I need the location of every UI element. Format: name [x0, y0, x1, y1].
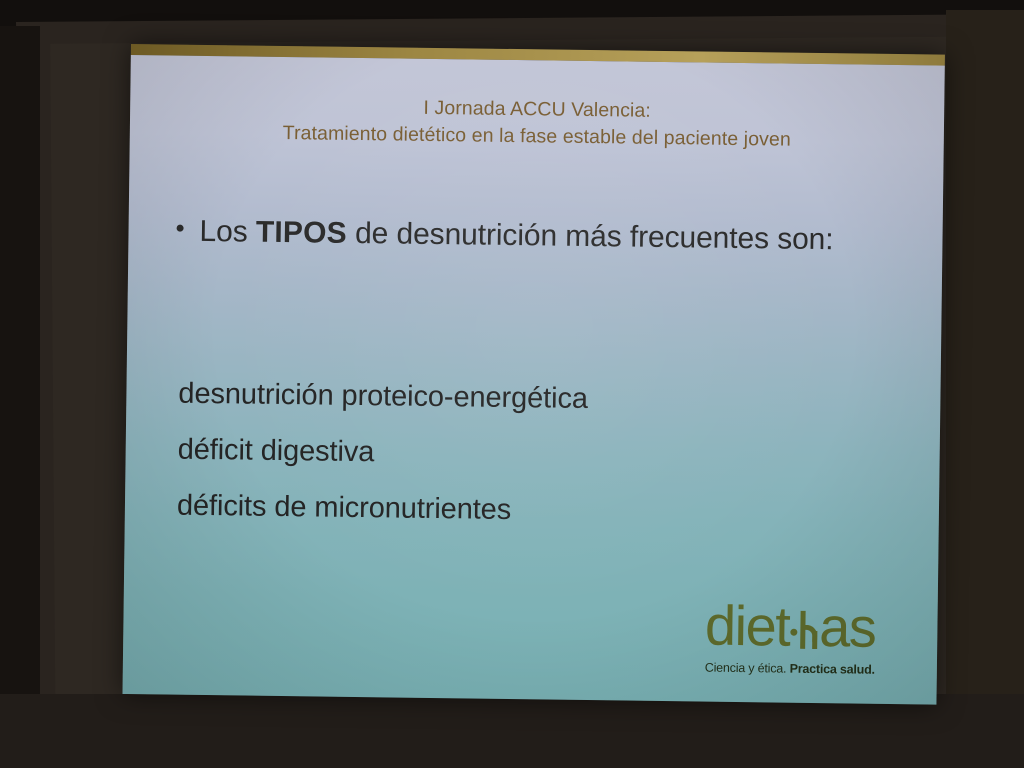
slide-header-line1: I Jornada ACCU Valencia: [423, 97, 651, 122]
logo-stylized-h-icon [789, 599, 820, 655]
logo-wordmark-part1: diet [705, 594, 790, 658]
logo-tagline-bold: Practica salud. [790, 662, 875, 677]
malnutrition-types-list: desnutrición proteico-energética déficit… [177, 366, 879, 543]
list-item: déficit digestiva [177, 422, 878, 487]
logo-tagline-regular: Ciencia y ética. [705, 661, 787, 676]
frame-shadow-right [946, 10, 1024, 768]
diethas-logo: dietas Ciencia y ética. Practica salud. [704, 598, 875, 678]
projection-scene: I Jornada ACCU Valencia: Tratamiento die… [0, 0, 1024, 768]
frame-shadow-left [0, 26, 40, 768]
slide-bullet-item: Los TIPOS de desnutrición más frecuentes… [176, 208, 907, 266]
bullet-dot-icon [177, 225, 184, 232]
slide-header: I Jornada ACCU Valencia: Tratamiento die… [130, 91, 945, 156]
presentation-slide: I Jornada ACCU Valencia: Tratamiento die… [122, 44, 944, 705]
slide-header-line2: Tratamiento dietético en la fase estable… [130, 118, 944, 156]
bullet-text-emphasis: TIPOS [256, 216, 347, 250]
logo-tagline: Ciencia y ética. Practica salud. [704, 660, 875, 678]
slide-canvas: I Jornada ACCU Valencia: Tratamiento die… [122, 55, 944, 705]
list-item: desnutrición proteico-energética [178, 366, 879, 431]
logo-wordmark: dietas [705, 598, 876, 656]
frame-shadow-bottom [0, 694, 1024, 768]
bullet-text-suffix: de desnutrición más frecuentes son: [347, 217, 834, 256]
logo-wordmark-part2: as [819, 595, 876, 659]
bullet-text-prefix: Los [199, 215, 256, 249]
bullet-text: Los TIPOS de desnutrición más frecuentes… [199, 208, 834, 264]
list-item: déficits de micronutrientes [177, 478, 878, 543]
